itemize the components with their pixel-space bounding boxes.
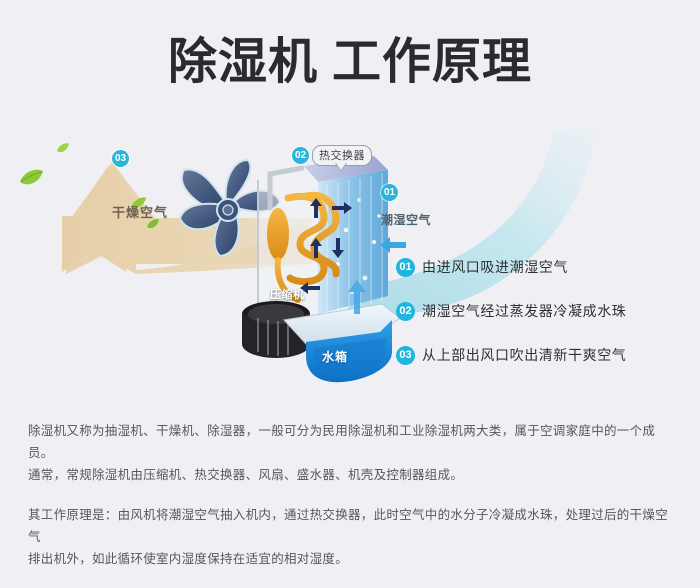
step-text-02: 潮湿空气经过蒸发器冷凝成水珠 xyxy=(422,301,626,321)
paragraph-1-line-1: 除湿机又称为抽湿机、干燥机、除湿器，一般可分为民用除湿机和工业除湿机两大类，属于… xyxy=(28,420,678,464)
badge-03: 03 xyxy=(112,150,129,167)
dry-air-label: 干燥空气 xyxy=(112,202,168,221)
step-list: 01 由进风口吸进潮湿空气 02 潮湿空气经过蒸发器冷凝成水珠 03 从上部出风… xyxy=(396,256,696,388)
list-item: 02 潮湿空气经过蒸发器冷凝成水珠 xyxy=(396,300,696,322)
title-part-2: 工作原理 xyxy=(332,35,532,89)
badge-02: 02 xyxy=(292,147,309,164)
dry-air-badge-label: 03 xyxy=(112,150,129,168)
title-text: 除湿机工作原理 xyxy=(168,34,532,90)
water-tank-label: 水箱 xyxy=(322,348,348,365)
paragraph-2: 其工作原理是：由风机将潮湿空气抽入机内，通过热交换器，此时空气中的水分子冷凝成水… xyxy=(28,504,678,570)
page-root: 除湿机工作原理 xyxy=(0,0,700,566)
paragraph-2-line-2: 排出机外，如此循环使室内湿度保持在适宜的相对湿度。 xyxy=(28,548,678,570)
paragraph-1-line-2: 通常，常规除湿机由压缩机、热交换器、风扇、盛水器、机壳及控制器组成。 xyxy=(28,464,678,486)
page-title: 除湿机工作原理 xyxy=(0,34,700,90)
heat-exchanger-callout: 02热交换器 xyxy=(292,145,372,166)
step-badge-01: 01 xyxy=(396,258,415,277)
humid-air-label: 潮湿空气 xyxy=(381,211,431,228)
title-part-1: 除湿机 xyxy=(168,35,318,89)
step-badge-03: 03 xyxy=(396,346,415,365)
dehumidifier-unit-icon xyxy=(228,138,408,388)
leaf-icon xyxy=(56,142,70,155)
step-text-03: 从上部出风口吹出清新干爽空气 xyxy=(422,345,626,365)
list-item: 01 由进风口吸进潮湿空气 xyxy=(396,256,696,278)
compressor-label: 压缩机 xyxy=(270,286,305,302)
callout-tail-icon xyxy=(335,163,347,171)
badge-01: 01 xyxy=(381,184,398,201)
leaf-icon xyxy=(18,168,44,188)
body-copy: 除湿机又称为抽湿机、干燥机、除湿器，一般可分为民用除湿机和工业除湿机两大类，属于… xyxy=(28,420,678,588)
step-badge-02: 02 xyxy=(396,302,415,321)
step-text-01: 由进风口吸进潮湿空气 xyxy=(422,257,568,277)
paragraph-2-line-1: 其工作原理是：由风机将潮湿空气抽入机内，通过热交换器，此时空气中的水分子冷凝成水… xyxy=(28,504,678,548)
humid-air-badge-label: 01 xyxy=(381,184,398,202)
paragraph-1: 除湿机又称为抽湿机、干燥机、除湿器，一般可分为民用除湿机和工业除湿机两大类，属于… xyxy=(28,420,678,486)
list-item: 03 从上部出风口吹出清新干爽空气 xyxy=(396,344,696,366)
